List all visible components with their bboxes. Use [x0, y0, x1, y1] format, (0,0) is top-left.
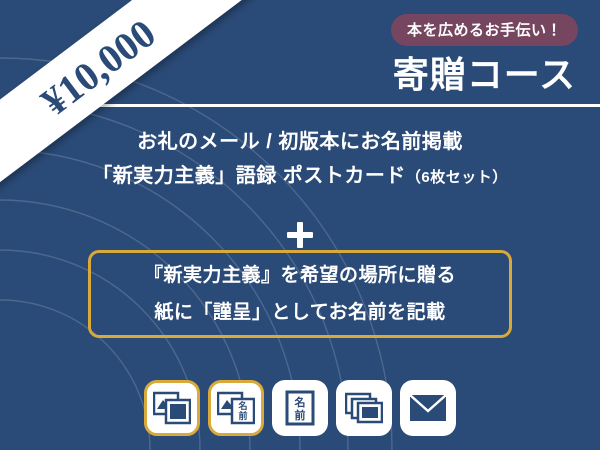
reward-line-2-sub: （6枚セット） [406, 169, 508, 186]
svg-text:名: 名 [237, 400, 247, 411]
reward-icon-row: 名 前 名 前 [0, 380, 600, 436]
donation-line-2: 紙に「謹呈」としてお名前を記載 [154, 303, 445, 322]
book-with-name-icon: 名 前 [208, 380, 264, 436]
help-spread-book-badge: 本を広めるお手伝い！ [391, 14, 578, 46]
reward-line-1: お礼のメール / 初版本にお名前掲載 [0, 132, 600, 152]
reward-line-2: 「新実力主義」語録 ポストカード（6枚セット） [0, 166, 600, 186]
donation-detail-box: 『新実力主義』を希望の場所に贈る 紙に「謹呈」としてお名前を記載 [88, 250, 512, 338]
postcard-set-icon [144, 380, 200, 436]
price-amount: ¥10,000 [32, 9, 164, 125]
page-title: 寄贈コース [393, 46, 576, 98]
svg-text:前: 前 [295, 408, 306, 422]
svg-text:前: 前 [238, 410, 247, 421]
stacked-copies-icon [336, 380, 392, 436]
reward-line-2-main: 「新実力主義」語録 ポストカード [92, 165, 406, 187]
plus-icon [287, 222, 313, 248]
reward-card: 本を広めるお手伝い！ 寄贈コース ¥10,000 お礼のメール / 初版本にお名… [0, 0, 600, 450]
envelope-mail-icon [400, 380, 456, 436]
svg-text:名: 名 [294, 395, 306, 409]
name-plate-icon: 名 前 [272, 380, 328, 436]
reward-description: お礼のメール / 初版本にお名前掲載 「新実力主義」語録 ポストカード（6枚セッ… [0, 132, 600, 200]
donation-line-1: 『新実力主義』を希望の場所に贈る [144, 266, 456, 285]
